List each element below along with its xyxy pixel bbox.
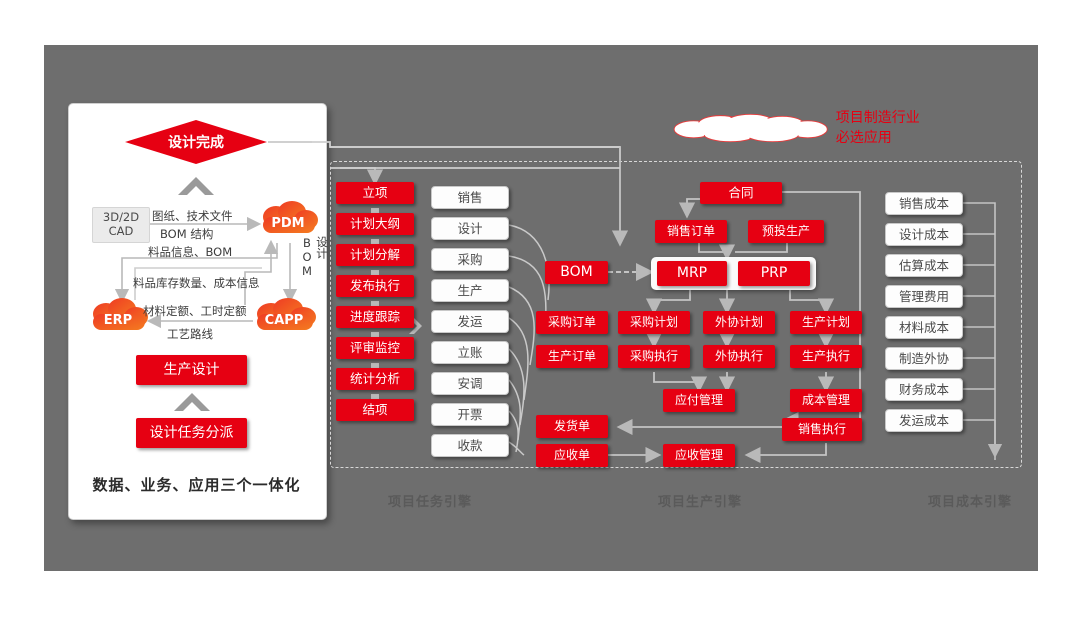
business-step-7[interactable]: 安调 [431,372,509,395]
task-step-4-label: 发布执行 [350,279,400,292]
payable-mgmt-label: 应付管理 [675,394,723,407]
receivable-note-node[interactable]: 应收单 [536,444,608,467]
cost-item-3[interactable]: 估算成本 [885,254,963,277]
cost-item-2[interactable]: 设计成本 [885,223,963,246]
production-design-node[interactable]: 生产设计 [136,355,247,385]
erp-cloud[interactable]: ERP [86,297,150,339]
flow-text-material-bom: 料品信息、BOM [148,244,232,260]
cost-item-8[interactable]: 发运成本 [885,409,963,432]
purchase-order-label: 采购订单 [548,316,596,329]
production-design-label: 生产设计 [164,363,220,378]
flow-text-drawings: 图纸、技术文件 [152,208,233,224]
business-step-2-label: 设计 [457,222,482,235]
receivable-note-label: 应收单 [554,449,590,462]
flow-text-quota: 材料定额、工时定额 [143,303,247,319]
erp-label: ERP [104,309,132,328]
cost-mgmt-label: 成本管理 [802,394,850,407]
bom-label: BOM [560,265,592,280]
task-engine-title: 项目任务引擎 [340,491,520,510]
production-exec-label: 生产执行 [802,350,850,363]
design-bom-vertical-label: 设计 BOM [300,236,330,304]
outsource-exec-label: 外协执行 [715,350,763,363]
task-step-1-label: 立项 [362,186,387,199]
business-step-1-label: 销售 [457,191,482,204]
business-step-8[interactable]: 开票 [431,403,509,426]
task-step-7-label: 统计分析 [350,372,400,385]
production-plan-node[interactable]: 生产计划 [790,311,862,334]
task-step-7[interactable]: 统计分析 [336,368,414,390]
cost-item-6-label: 制造外协 [899,352,949,365]
design-complete-diamond[interactable]: 设计完成 [125,120,267,164]
cost-item-1[interactable]: 销售成本 [885,192,963,215]
purchase-exec-node[interactable]: 采购执行 [618,345,690,368]
cost-item-7-label: 财务成本 [899,383,949,396]
task-step-2-label: 计划大纲 [350,217,400,230]
prp-label: PRP [761,266,788,281]
cost-item-1-label: 销售成本 [899,197,949,210]
task-step-3[interactable]: 计划分解 [336,244,414,266]
business-step-4-label: 生产 [457,284,482,297]
business-step-8-label: 开票 [457,408,482,421]
cost-item-8-label: 发运成本 [899,414,949,427]
pdm-label: PDM [271,212,304,231]
cost-item-4-label: 管理费用 [899,290,949,303]
purchase-exec-label: 采购执行 [630,350,678,363]
pre-production-label: 预投生产 [762,225,810,238]
callout-cloud-shape-icon [665,106,836,150]
design-task-assign-node[interactable]: 设计任务分派 [136,418,247,448]
outsource-plan-node[interactable]: 外协计划 [703,311,775,334]
mrp-node[interactable]: MRP [657,261,727,286]
cost-item-2-label: 设计成本 [899,228,949,241]
outsource-plan-label: 外协计划 [715,316,763,329]
cad-label: 3D/2D CAD [103,211,139,239]
card-footer-text: 数据、业务、应用三个一体化 [68,474,325,495]
contract-node[interactable]: 合同 [700,182,782,204]
cost-item-6[interactable]: 制造外协 [885,347,963,370]
sales-exec-label: 销售执行 [798,423,846,436]
callout-cloud: 项目制造行业必选应用 [665,106,927,150]
delivery-note-label: 发货单 [554,420,590,433]
business-step-2[interactable]: 设计 [431,217,509,240]
task-step-1[interactable]: 立项 [336,182,414,204]
cost-engine-title: 项目成本引擎 [880,491,1060,510]
business-step-4[interactable]: 生产 [431,279,509,302]
task-step-2[interactable]: 计划大纲 [336,213,414,235]
bom-node[interactable]: BOM [545,261,608,284]
task-step-8[interactable]: 结项 [336,399,414,421]
business-step-5[interactable]: 发运 [431,310,509,333]
production-order-node[interactable]: 生产订单 [536,345,608,368]
business-step-3[interactable]: 采购 [431,248,509,271]
task-step-5-label: 进度跟踪 [350,310,400,323]
production-plan-label: 生产计划 [802,316,850,329]
production-order-label: 生产订单 [548,350,596,363]
contract-label: 合同 [728,186,753,199]
prp-node[interactable]: PRP [738,261,810,286]
cad-box: 3D/2D CAD [92,207,150,243]
business-step-6[interactable]: 立账 [431,341,509,364]
delivery-note-node[interactable]: 发货单 [536,415,608,438]
diagram-canvas: 设计完成 3D/2D CAD PDM [0,0,1080,617]
callout-label: 项目制造行业必选应用 [836,107,927,147]
capp-label: CAPP [265,309,304,328]
business-step-9[interactable]: 收款 [431,434,509,457]
task-step-6[interactable]: 评审监控 [336,337,414,359]
task-step-3-label: 计划分解 [350,248,400,261]
flow-text-bom-structure: BOM 结构 [160,226,213,242]
cost-item-7[interactable]: 财务成本 [885,378,963,401]
purchase-plan-node[interactable]: 采购计划 [618,311,690,334]
cost-item-3-label: 估算成本 [899,259,949,272]
production-engine-title: 项目生产引擎 [610,491,790,510]
business-step-1[interactable]: 销售 [431,186,509,209]
cost-mgmt-node[interactable]: 成本管理 [790,389,862,412]
flow-text-inventory-cost: 料品库存数量、成本信息 [133,275,260,291]
outsource-exec-node[interactable]: 外协执行 [703,345,775,368]
purchase-order-node[interactable]: 采购订单 [536,311,608,334]
payable-mgmt-node[interactable]: 应付管理 [663,389,735,412]
sales-order-label: 销售订单 [667,225,715,238]
task-step-5[interactable]: 进度跟踪 [336,306,414,328]
task-step-6-label: 评审监控 [350,341,400,354]
business-step-9-label: 收款 [457,439,482,452]
sales-exec-node[interactable]: 销售执行 [782,418,862,441]
task-step-4[interactable]: 发布执行 [336,275,414,297]
mrp-label: MRP [677,266,707,281]
receivable-mgmt-label: 应收管理 [675,449,723,462]
cost-item-4[interactable]: 管理费用 [885,285,963,308]
flow-text-process-route: 工艺路线 [167,326,213,342]
pre-production-node[interactable]: 预投生产 [748,220,824,243]
design-complete-label: 设计完成 [168,132,224,152]
sales-order-node[interactable]: 销售订单 [655,220,727,243]
design-task-assign-label: 设计任务分派 [150,426,234,441]
business-step-6-label: 立账 [457,346,482,359]
receivable-mgmt-node[interactable]: 应收管理 [663,444,735,467]
business-step-5-label: 发运 [457,315,482,328]
task-step-8-label: 结项 [362,403,387,416]
cost-item-5-label: 材料成本 [899,321,949,334]
business-step-3-label: 采购 [457,253,482,266]
purchase-plan-label: 采购计划 [630,316,678,329]
business-step-7-label: 安调 [457,377,482,390]
cost-item-5[interactable]: 材料成本 [885,316,963,339]
production-exec-node[interactable]: 生产执行 [790,345,862,368]
